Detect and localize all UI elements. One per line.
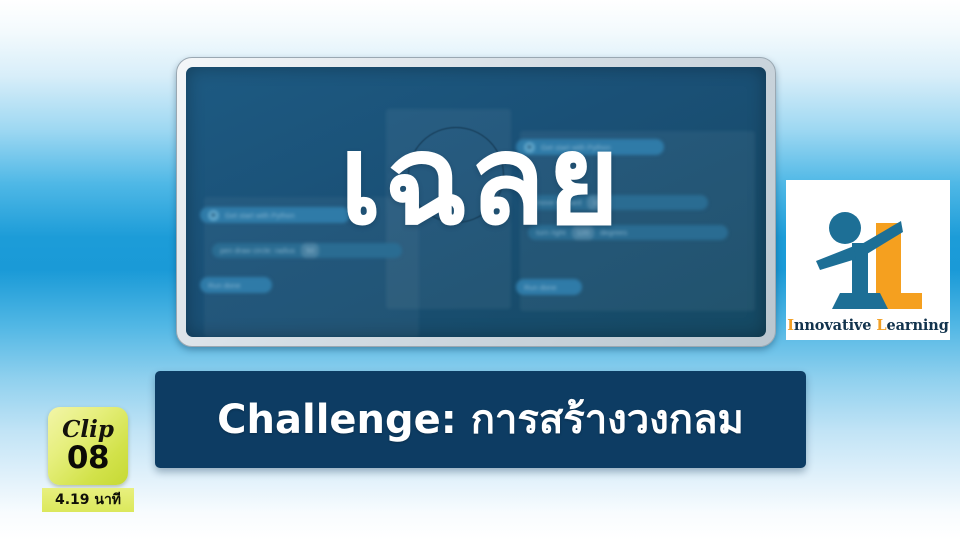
block-run-done-left[interactable]: Run done: [200, 277, 272, 293]
title-bar: Challenge: การสร้างวงกลม: [155, 371, 806, 468]
brand-initial-l: L: [876, 317, 886, 334]
clip-number: 08: [67, 442, 109, 475]
block-label: pen draw circle: radius: [220, 243, 295, 258]
block-label: Run done: [208, 278, 241, 293]
clip-duration: 4.19 นาที: [42, 488, 134, 512]
clip-label: Clip: [62, 417, 114, 442]
brand-initial-i: I: [787, 317, 794, 334]
brand-name: Innovative Learning: [787, 317, 949, 334]
page-title: Challenge: การสร้างวงกลม: [217, 396, 744, 444]
clip-badge: Clip 08: [48, 407, 128, 485]
block-label: Run done: [524, 280, 557, 295]
answer-overlay-text: เฉลย: [0, 118, 960, 243]
brand-innovative: nnovative: [794, 317, 876, 334]
block-run-done-right[interactable]: Run done: [516, 279, 582, 295]
brand-learning: earning: [886, 317, 948, 334]
slide-canvas: Get start with Python pen draw circle: r…: [0, 0, 960, 540]
block-value[interactable]: 50: [301, 243, 319, 258]
